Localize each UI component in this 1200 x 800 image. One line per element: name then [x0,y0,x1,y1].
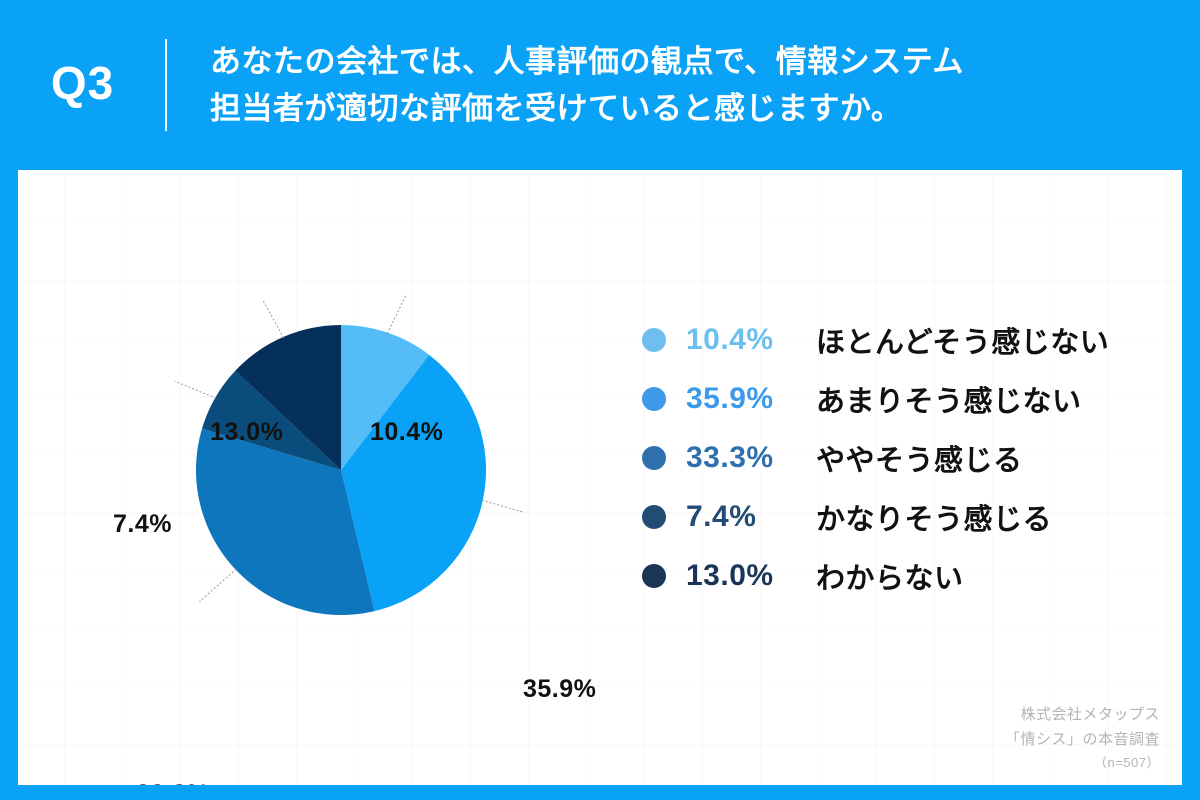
legend-percent: 10.4% [686,323,816,357]
legend-label: あまりそう感じない [816,378,1082,420]
source-survey: 「情シス」の本音調査 [1005,728,1160,752]
pie-leader-line [387,295,406,334]
chart-card: 10.4%35.9%33.3%7.4%13.0% 10.4%ほとんどそう感じない… [18,170,1182,785]
pie-chart: 10.4%35.9%33.3%7.4%13.0% [18,170,638,690]
legend-percent: 35.9% [686,382,816,416]
legend-color-dot-icon [642,505,666,529]
legend-color-dot-icon [642,387,666,411]
legend-label: かなりそう感じる [816,496,1052,538]
legend-row[interactable]: 13.0%わからない [642,546,1162,605]
legend-row[interactable]: 33.3%ややそう感じる [642,428,1162,487]
pie-value-label: 35.9% [523,675,596,704]
pie-value-label: 33.3% [136,780,209,785]
header-divider [165,39,167,131]
pie-value-label: 13.0% [210,418,283,447]
legend-percent: 13.0% [686,559,816,593]
question-number: Q3 [0,60,165,110]
legend-label: わからない [816,555,964,597]
source-sample-size: （n=507） [1005,752,1160,773]
pie-leader-line [175,381,216,398]
legend-label: ややそう感じる [816,437,1023,479]
legend-row[interactable]: 35.9%あまりそう感じない [642,369,1162,428]
chart-legend: 10.4%ほとんどそう感じない35.9%あまりそう感じない33.3%ややそう感じ… [642,310,1162,605]
question-text: あなたの会社では、人事評価の観点で、情報システム 担当者が適切な評価を受けている… [167,38,964,132]
legend-row[interactable]: 10.4%ほとんどそう感じない [642,310,1162,369]
question-line-1: あなたの会社では、人事評価の観点で、情報システム [210,38,964,85]
legend-label: ほとんどそう感じない [816,319,1109,361]
pie-chart-svg [18,170,638,690]
pie-leader-line [262,299,284,338]
pie-value-label: 7.4% [113,510,172,539]
legend-percent: 33.3% [686,441,816,475]
source-company: 株式会社メタップス [1005,703,1160,727]
pie-value-label: 10.4% [370,418,443,447]
legend-color-dot-icon [642,446,666,470]
pie-slice-group [196,325,486,615]
pie-leader-line [199,569,236,602]
slide-root: Q3 あなたの会社では、人事評価の観点で、情報システム 担当者が適切な評価を受け… [0,0,1200,800]
source-credit: 株式会社メタップス 「情シス」の本音調査 （n=507） [1005,703,1160,773]
slide-header: Q3 あなたの会社では、人事評価の観点で、情報システム 担当者が適切な評価を受け… [0,0,1200,170]
question-line-2: 担当者が適切な評価を受けていると感じますか。 [210,85,964,132]
legend-color-dot-icon [642,564,666,588]
legend-percent: 7.4% [686,500,816,534]
pie-leader-line [482,500,524,512]
legend-row[interactable]: 7.4%かなりそう感じる [642,487,1162,546]
legend-color-dot-icon [642,328,666,352]
